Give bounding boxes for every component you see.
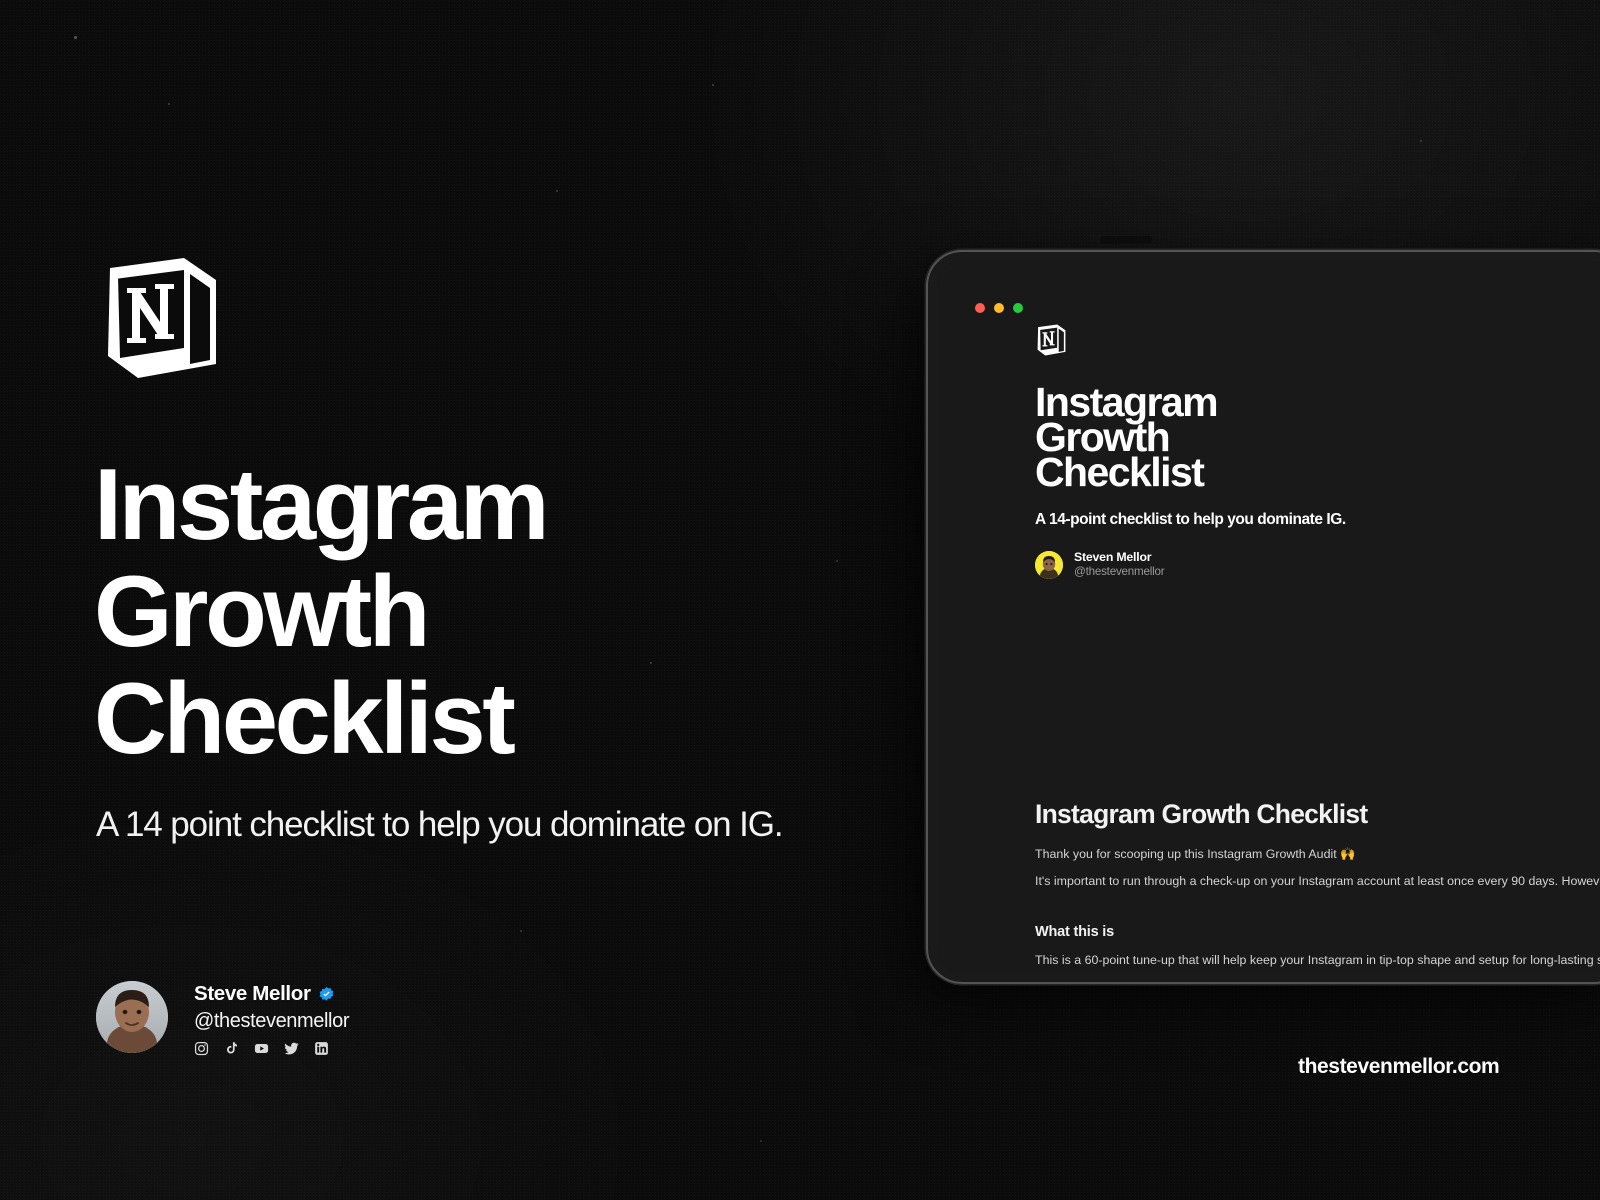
maximize-traffic-light[interactable] [1013, 303, 1023, 313]
tablet-screen: Instagram Growth Checklist A 14-point ch… [937, 261, 1600, 973]
hero-panel: Instagram Growth Checklist A 14 point ch… [94, 0, 914, 1200]
title-line-2: Growth [94, 559, 914, 666]
youtube-icon[interactable] [254, 1041, 269, 1056]
doc-heading: Instagram Growth Checklist [1035, 799, 1600, 830]
social-links[interactable] [194, 1041, 349, 1056]
page-subtitle: A 14 point checklist to help you dominat… [96, 803, 936, 847]
tablet-traffic-lights [975, 303, 1023, 313]
avatar [96, 981, 168, 1053]
doc-intro-2: It's important to run through a check-up… [1035, 874, 1600, 888]
cover-subtitle: A 14-point checklist to help you dominat… [1035, 511, 1600, 529]
minimize-traffic-light[interactable] [994, 303, 1004, 313]
tablet-power-button[interactable] [1100, 236, 1152, 244]
cover-author: Steven Mellor @thestevenmellor [1035, 550, 1600, 579]
tiktok-icon[interactable] [224, 1041, 239, 1056]
author-block: Steve Mellor @thestevenmellor [96, 981, 516, 1059]
tablet-document: Instagram Growth Checklist Thank you for… [1035, 799, 1600, 973]
title-line-1: Instagram [94, 452, 914, 559]
cover-author-text: Steven Mellor @thestevenmellor [1074, 550, 1164, 579]
author-text: Steve Mellor @thestevenmellor [194, 981, 349, 1056]
tablet-device: Instagram Growth Checklist A 14-point ch… [928, 252, 1600, 982]
verified-badge-icon [318, 986, 335, 1003]
website-url[interactable]: thestevenmellor.com [1298, 1055, 1499, 1079]
instagram-icon[interactable] [194, 1041, 209, 1056]
doc-section-heading: What this is [1035, 924, 1600, 940]
page-title: Instagram Growth Checklist [94, 452, 914, 773]
twitter-icon[interactable] [284, 1041, 299, 1056]
cover-avatar [1035, 551, 1063, 579]
notion-logo-icon [1035, 323, 1068, 357]
cover-title-line-3: Checklist [1035, 455, 1600, 490]
cover-author-name: Steven Mellor [1074, 550, 1164, 564]
linkedin-icon[interactable] [314, 1041, 329, 1056]
cover-title: Instagram Growth Checklist [1035, 385, 1600, 490]
title-line-3: Checklist [94, 666, 914, 773]
poster-canvas: Instagram Growth Checklist A 14 point ch… [0, 0, 1600, 1200]
close-traffic-light[interactable] [975, 303, 985, 313]
author-handle: @thestevenmellor [194, 1008, 349, 1034]
device-mockups: ☰ ‹ › + Instagram Growth Audit Instagram… [928, 240, 1600, 1000]
cover-author-handle: @thestevenmellor [1074, 565, 1164, 579]
author-name: Steve Mellor [194, 981, 311, 1007]
author-name-row: Steve Mellor [194, 981, 349, 1007]
doc-intro-1: Thank you for scooping up this Instagram… [1035, 847, 1600, 862]
doc-section-body: This is a 60-point tune-up that will hel… [1035, 953, 1600, 967]
notion-logo-icon [98, 252, 226, 384]
